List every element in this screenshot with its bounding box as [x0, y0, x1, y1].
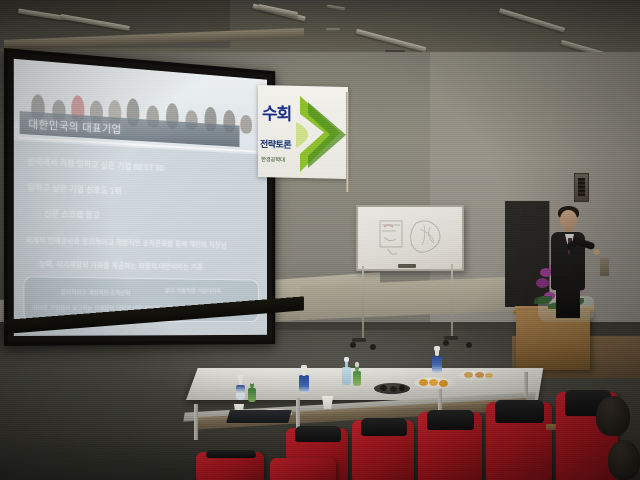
auditorium-seat[interactable] [486, 402, 552, 480]
bottle-body [299, 375, 309, 393]
audience-head [608, 440, 640, 480]
bottle-cap [344, 357, 349, 362]
seat-headrest [295, 426, 341, 442]
header-figure [240, 115, 252, 134]
snack-food [399, 385, 405, 391]
seat-headrest [361, 418, 407, 436]
snack-food [390, 386, 397, 392]
snack-food [380, 385, 387, 391]
seat-headrest [495, 400, 544, 423]
bottle-cap [250, 379, 254, 384]
water-bottle[interactable] [342, 360, 351, 385]
dark-folder[interactable] [226, 410, 292, 423]
banner-org-text: 한경공학대 [261, 155, 285, 163]
cookie [475, 372, 484, 378]
yogurt-drink-bottle[interactable] [236, 378, 245, 400]
whiteboard-sketch [358, 207, 462, 269]
presenter [540, 202, 602, 320]
slide-callout-text: 밝고 바람직한 기업이미지 [165, 286, 221, 295]
bottle-body [353, 371, 361, 386]
bottle-body [236, 385, 245, 400]
green-soda-bottle[interactable] [353, 365, 361, 386]
bottle-body [248, 388, 256, 402]
table-leg [194, 404, 198, 440]
yogurt-drink-bottle[interactable] [299, 368, 309, 393]
slide-callout-text: 창의적이고 개방적인 조직문화 [61, 288, 131, 297]
dark-snack-plate [374, 383, 410, 394]
bottle-cap [301, 365, 307, 370]
cookie-plate [458, 370, 498, 381]
presenter-hand [593, 249, 600, 255]
presenter-legs [556, 288, 580, 318]
ceiling-vent [326, 28, 340, 31]
slide-title: 대한민국의 대표기업 [28, 115, 121, 136]
whiteboard[interactable] [356, 205, 464, 271]
wall-speaker-box [574, 173, 589, 202]
bottle-body [432, 356, 442, 373]
fruit-plate [414, 377, 456, 389]
bottle-cap [238, 375, 243, 380]
orange-slice [429, 379, 438, 386]
paper-cup[interactable] [322, 396, 333, 409]
whiteboard-marker-tray [398, 264, 416, 268]
slide-bullet: - 신문 스크랩 참고 [39, 207, 100, 221]
table-leg [524, 372, 528, 396]
presenter-head [560, 210, 577, 230]
slide-bullet: 능력, 자기계발의 기회를 제공하는 희망적 대안이라는 기준 [39, 259, 203, 273]
banner-title: 수회 [262, 99, 291, 125]
auditorium-seat[interactable] [352, 420, 414, 480]
slide-surface: 대한민국의 대표기업 한국에서 가장 일하고 싶은 기업 BEST 30 일하고… [14, 59, 267, 336]
whiteboard-caster-wheel [443, 340, 449, 346]
auditorium-seat[interactable] [418, 412, 482, 480]
cookie [464, 372, 473, 378]
orange-slice [439, 380, 448, 387]
conference-hall-photo: 대한민국의 대표기업 한국에서 가장 일하고 싶은 기업 BEST 30 일하고… [0, 0, 640, 480]
bottle-body [342, 367, 351, 386]
microphone[interactable] [570, 246, 573, 256]
green-soda-bottle[interactable] [248, 382, 256, 402]
seat-headrest [206, 450, 256, 458]
bottle-cap [355, 362, 359, 367]
chevron-logo-icon [294, 92, 348, 179]
whiteboard-caster-wheel [370, 344, 376, 350]
speaker-grill-icon [578, 178, 585, 196]
banner-subtitle: 전략토론 [260, 137, 291, 151]
slide-bullet: 일하고 싶은 기업 선호도 1위 [27, 181, 121, 197]
whiteboard-caster-wheel [466, 342, 472, 348]
whiteboard-leg [451, 264, 453, 340]
yogurt-drink-bottle[interactable] [432, 349, 442, 373]
slide-bullet: 체계적 인재관리와 창의적이고 개방적인 조직문화를 통해 계란의 직장님 [25, 235, 226, 251]
banner-pole [346, 92, 349, 192]
whiteboard-caster-wheel [350, 342, 356, 348]
orange-slice [419, 379, 428, 386]
seat-headrest [427, 410, 474, 430]
auditorium-seat[interactable] [196, 452, 264, 480]
bottle-cap [434, 346, 440, 351]
slide-bullet: 한국에서 가장 일하고 싶은 기업 BEST 30 [27, 155, 163, 174]
event-banner: 수회 전략토론 한경공학대 [258, 85, 348, 179]
cookie [485, 373, 493, 378]
audience-head [596, 396, 630, 436]
seat-back [270, 458, 336, 480]
auditorium-seat[interactable] [270, 458, 336, 480]
whiteboard-leg [362, 266, 364, 340]
